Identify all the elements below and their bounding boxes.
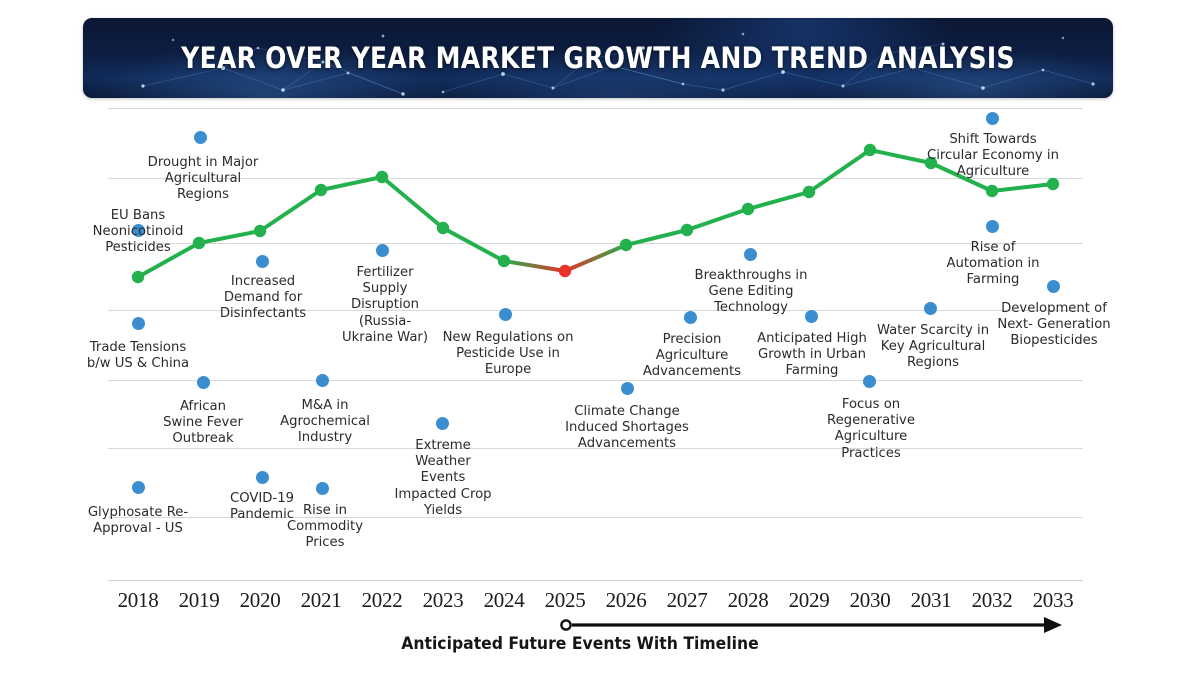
year-label-2030: 2030 (835, 588, 905, 613)
year-label-2018: 2018 (103, 588, 173, 613)
event-label-automation-farming: Rise of Automation in Farming (918, 240, 1068, 289)
event-dot-increased-demand[interactable] (256, 255, 269, 268)
event-dot-climate-change[interactable] (621, 382, 634, 395)
trend-marker-2027[interactable] (681, 224, 693, 236)
event-dot-covid-19[interactable] (256, 471, 269, 484)
event-dot-regenerative-ag[interactable] (863, 375, 876, 388)
trend-marker-2018[interactable] (132, 271, 144, 283)
year-label-2024: 2024 (469, 588, 539, 613)
event-label-ma-agrochemical: M&A in Agrochemical Industry (255, 398, 395, 447)
event-label-gene-editing: Breakthroughs in Gene Editing Technology (661, 268, 841, 317)
event-dot-glyphosate[interactable] (132, 481, 145, 494)
event-dot-biopesticides[interactable] (1047, 280, 1060, 293)
year-label-2026: 2026 (591, 588, 661, 613)
event-label-climate-change: Climate Change Induced Shortages Advance… (532, 404, 722, 453)
event-dot-fertilizer-supply[interactable] (376, 244, 389, 257)
year-label-2027: 2027 (652, 588, 722, 613)
event-label-regenerative-ag: Focus on Regenerative Agriculture Practi… (796, 397, 946, 462)
year-label-2019: 2019 (164, 588, 234, 613)
year-label-2025: 2025 (530, 588, 600, 613)
event-label-circular-economy: Shift Towards Circular Economy in Agricu… (893, 132, 1093, 181)
trend-line-segment (565, 245, 626, 271)
event-dot-circular-economy[interactable] (986, 112, 999, 125)
trend-marker-2022[interactable] (376, 171, 388, 183)
event-label-eu-bans: EU Bans Neonicotinoid Pesticides (63, 208, 213, 257)
event-dot-ma-agrochemical[interactable] (316, 374, 329, 387)
event-dot-commodity-prices[interactable] (316, 482, 329, 495)
trend-marker-2026[interactable] (620, 239, 632, 251)
year-label-2033: 2033 (1018, 588, 1088, 613)
event-label-drought: Drought in Major Agricultural Regions (123, 155, 283, 204)
gridline (108, 380, 1083, 381)
event-label-african-swine: African Swine Fever Outbreak (138, 399, 268, 448)
trend-marker-2030[interactable] (864, 144, 876, 156)
trend-line-segment (504, 261, 565, 271)
trend-line-segment (443, 228, 504, 261)
trend-marker-2032[interactable] (986, 185, 998, 197)
x-axis-caption: Anticipated Future Events With Timeline (46, 634, 1113, 654)
event-label-biopesticides: Development of Next- Generation Biopesti… (959, 301, 1149, 350)
year-label-2023: 2023 (408, 588, 478, 613)
trend-line-segment (992, 184, 1053, 191)
trend-marker-2025[interactable] (559, 265, 571, 277)
event-label-glyphosate: Glyphosate Re- Approval - US (58, 505, 218, 537)
year-label-2032: 2032 (957, 588, 1027, 613)
trend-marker-2024[interactable] (498, 255, 510, 267)
event-dot-water-scarcity[interactable] (924, 302, 937, 315)
event-label-trade-tensions: Trade Tensions b/w US & China (58, 340, 218, 372)
event-dot-automation-farming[interactable] (986, 220, 999, 233)
trend-line-segment (687, 209, 748, 230)
event-label-increased-demand: Increased Demand for Disinfectants (196, 274, 331, 323)
year-label-2020: 2020 (225, 588, 295, 613)
year-label-2031: 2031 (896, 588, 966, 613)
trend-line-segment (748, 192, 809, 209)
trend-marker-2021[interactable] (315, 184, 327, 196)
arrow-start-circle (561, 620, 570, 629)
trend-line-segment (382, 177, 443, 228)
chart-plot-area: EU Bans Neonicotinoid PesticidesTrade Te… (0, 0, 1200, 675)
event-dot-new-regulations[interactable] (499, 308, 512, 321)
year-label-2028: 2028 (713, 588, 783, 613)
event-label-commodity-prices: Rise in Commodity Prices (265, 503, 385, 552)
trend-marker-2020[interactable] (254, 225, 266, 237)
event-dot-african-swine[interactable] (197, 376, 210, 389)
x-axis-line (108, 580, 1083, 581)
trend-marker-2029[interactable] (803, 186, 815, 198)
event-dot-drought[interactable] (194, 131, 207, 144)
gridline (108, 108, 1083, 109)
event-label-new-regulations: New Regulations on Pesticide Use in Euro… (413, 330, 603, 379)
event-dot-urban-farming[interactable] (805, 310, 818, 323)
event-dot-gene-editing[interactable] (744, 248, 757, 261)
trend-marker-2028[interactable] (742, 203, 754, 215)
year-label-2029: 2029 (774, 588, 844, 613)
year-label-2021: 2021 (286, 588, 356, 613)
year-label-2022: 2022 (347, 588, 417, 613)
trend-line-segment (809, 150, 870, 192)
event-label-extreme-weather: Extreme Weather Events Impacted Crop Yie… (378, 438, 508, 519)
arrow-head (1044, 617, 1062, 633)
event-dot-trade-tensions[interactable] (132, 317, 145, 330)
trend-marker-2023[interactable] (437, 222, 449, 234)
event-dot-extreme-weather[interactable] (436, 417, 449, 430)
